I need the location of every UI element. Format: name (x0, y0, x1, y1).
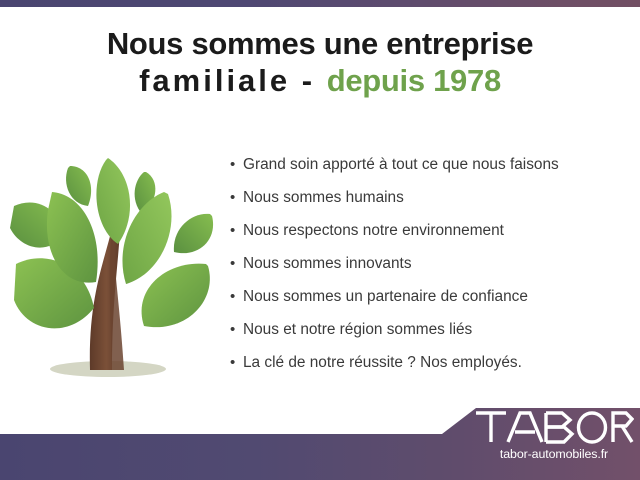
bullet-marker-icon: • (230, 181, 243, 214)
bullet-marker-icon: • (230, 346, 243, 379)
list-item-label: Grand soin apporté à tout ce que nous fa… (243, 148, 559, 181)
bullet-marker-icon: • (230, 280, 243, 313)
bullet-marker-icon: • (230, 313, 243, 346)
list-item: • Nous et notre région sommes liés (230, 313, 630, 346)
list-item: • Nous sommes innovants (230, 247, 630, 280)
page-title-line-1: Nous sommes une entreprise (0, 26, 640, 63)
page-title: Nous sommes une entreprise familiale - d… (0, 26, 640, 99)
benefits-list: • Grand soin apporté à tout ce que nous … (230, 148, 630, 379)
list-item: • Nous sommes humains (230, 181, 630, 214)
bullet-marker-icon: • (230, 247, 243, 280)
bullet-marker-icon: • (230, 214, 243, 247)
list-item-label: Nous sommes innovants (243, 247, 412, 280)
list-item-label: La clé de notre réussite ? Nos employés. (243, 346, 522, 379)
page-title-highlight: depuis 1978 (327, 63, 501, 98)
list-item-label: Nous sommes humains (243, 181, 404, 214)
list-item: • Grand soin apporté à tout ce que nous … (230, 148, 630, 181)
slide-canvas: Nous sommes une entreprise familiale - d… (0, 0, 640, 480)
list-item-label: Nous respectons notre environnement (243, 214, 504, 247)
list-item: • Nous sommes un partenaire de confiance (230, 280, 630, 313)
brand-tagline: tabor-automobiles.fr (474, 447, 634, 461)
top-accent-strip (0, 0, 640, 7)
bullet-marker-icon: • (230, 148, 243, 181)
list-item: • Nous respectons notre environnement (230, 214, 630, 247)
leaf-mid-right (174, 214, 213, 253)
list-item-label: Nous et notre région sommes liés (243, 313, 472, 346)
list-item-label: Nous sommes un partenaire de confiance (243, 280, 528, 313)
leaf-lower-right (142, 264, 210, 328)
page-title-line-2: familiale - depuis 1978 (0, 63, 640, 100)
leaf-center (96, 158, 130, 244)
tree-illustration (8, 148, 218, 394)
list-item: • La clé de notre réussite ? Nos employé… (230, 346, 630, 379)
brand-wordmark (474, 409, 634, 445)
page-title-line-2-black: familiale - (139, 63, 327, 98)
brand-logo[interactable]: tabor-automobiles.fr (474, 409, 640, 471)
